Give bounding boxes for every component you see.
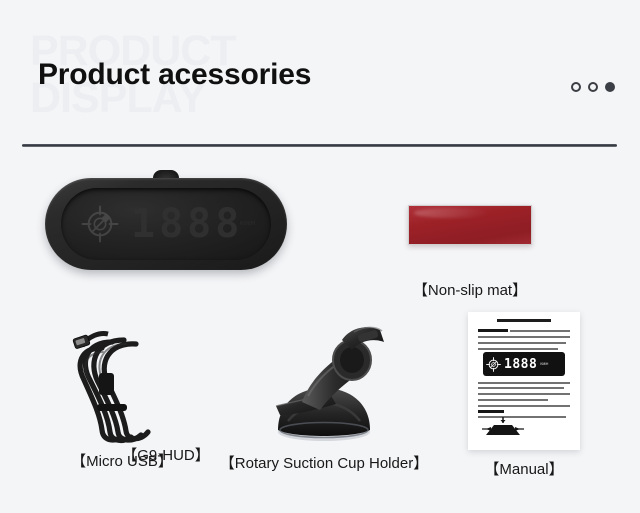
manual-mounting-diagram — [482, 416, 524, 438]
caption-non-slip-mat: 【Non-slip mat】 — [378, 279, 562, 300]
caption-micro-usb: 【Micro USB】 — [47, 450, 197, 471]
manual-text-line — [478, 387, 564, 389]
header-divider — [22, 144, 617, 147]
manual-text-line — [478, 399, 548, 401]
pagination-dot-2[interactable] — [588, 82, 598, 92]
manual-highlight-3 — [478, 410, 504, 413]
caption-suction-cup-holder: 【Rotary Suction Cup Holder】 — [203, 452, 445, 473]
manual-display-graphic: 1888 KM/H — [483, 352, 565, 376]
manual-text-line — [478, 382, 570, 384]
product-non-slip-mat: 【Non-slip mat】 — [408, 205, 532, 245]
product-micro-usb: 【Micro USB】 — [62, 318, 182, 446]
rotary-suction-cup-holder-image — [258, 320, 390, 448]
caption-manual: 【Manual】 — [424, 458, 624, 479]
gps-satellite-icon — [486, 357, 501, 372]
manual-text-line — [478, 348, 558, 350]
product-manual: 1888 KM/H 【Manual】 — [468, 312, 580, 450]
micro-usb-cable-image — [62, 318, 182, 446]
manual-display-value: 1888 — [504, 358, 537, 371]
product-suction-cup-holder: 【Rotary Suction Cup Holder】 — [258, 320, 390, 448]
gps-satellite-icon — [79, 203, 121, 245]
manual-text-line — [478, 336, 570, 338]
manual-page-image: 1888 KM/H — [468, 312, 580, 450]
manual-heading-bar — [497, 319, 551, 322]
manual-text-line — [478, 405, 570, 407]
manual-display-units: KM/H — [540, 362, 548, 366]
hud-display-units: KM/H — [240, 220, 255, 228]
mat-gloss-highlight — [414, 208, 490, 218]
pagination-dots[interactable] — [571, 82, 615, 92]
hud-screen: 1888 KM/H — [61, 188, 271, 260]
manual-text-line — [478, 342, 566, 344]
page-title: Product acessories — [38, 58, 311, 92]
manual-highlight-1 — [478, 329, 508, 332]
pagination-dot-1[interactable] — [571, 82, 581, 92]
hud-body: 1888 KM/H — [45, 178, 287, 270]
manual-text-line — [510, 330, 570, 332]
manual-text-line — [478, 393, 570, 395]
product-g9-hud: 1888 KM/H 【G9-HUD】 — [45, 170, 287, 275]
product-accessories-page: PRODUCTDISPLAY Product acessories 1888 K… — [0, 0, 640, 513]
hud-display-value: 1888 — [131, 204, 243, 244]
non-slip-mat-image — [408, 205, 532, 245]
pagination-dot-3[interactable] — [605, 82, 615, 92]
